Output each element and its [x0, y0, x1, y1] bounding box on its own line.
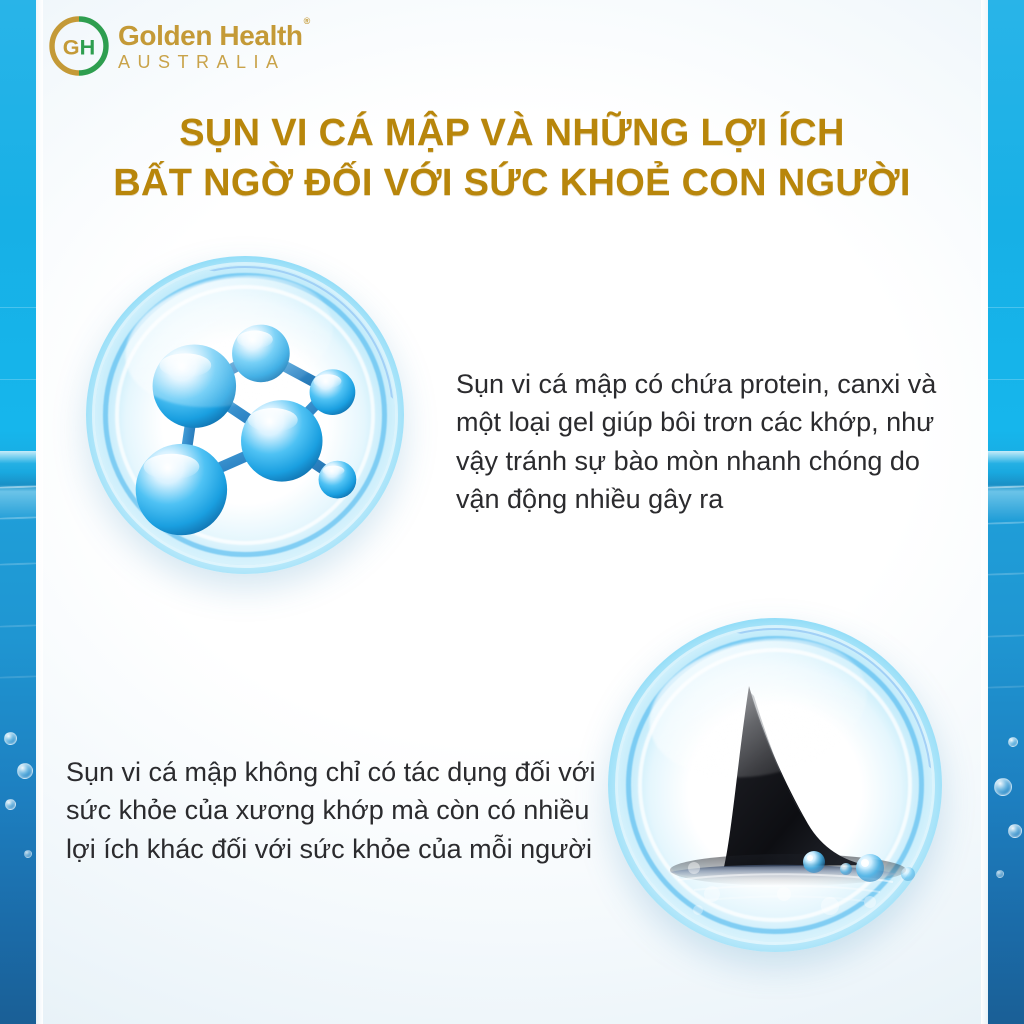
gh-monogram-icon: GH — [49, 16, 109, 76]
molecule-sphere-icon — [86, 256, 404, 574]
infographic-poster: GH Golden Health® AUSTRALIA SỤN VI CÁ MẬ… — [0, 0, 1024, 1024]
page-title-line-2: BẤT NGỜ ĐỐI VỚI SỨC KHOẺ CON NGƯỜI — [0, 158, 1024, 208]
bubble-icon — [994, 778, 1012, 796]
body-text-general-health: Sụn vi cá mập không chỉ có tác dụng đối … — [66, 753, 596, 868]
brand-wordmark: Golden Health® AUSTRALIA — [118, 22, 309, 71]
svg-text:GH: GH — [63, 34, 95, 59]
body-text-joints: Sụn vi cá mập có chứa protein, canxi và … — [456, 365, 948, 518]
bubble-icon — [1008, 824, 1022, 838]
shark-fin-sphere-icon — [608, 618, 942, 952]
bubble-icon — [1008, 737, 1018, 747]
molecule-diagram — [86, 256, 404, 574]
bubble-icon — [4, 732, 17, 745]
brand-country: AUSTRALIA — [118, 53, 309, 71]
shark-fin-photo — [608, 618, 942, 952]
bubble-icon — [17, 763, 33, 779]
brand-name: Golden Health — [118, 20, 303, 51]
bubble-icon — [996, 870, 1004, 878]
registered-trademark-icon: ® — [304, 16, 310, 26]
brand-logo[interactable]: GH Golden Health® AUSTRALIA — [49, 16, 309, 76]
page-title-line-1: SỤN VI CÁ MẬP VÀ NHỮNG LỢI ÍCH — [0, 108, 1024, 158]
bubble-icon — [5, 799, 16, 810]
page-title: SỤN VI CÁ MẬP VÀ NHỮNG LỢI ÍCH BẤT NGỜ Đ… — [0, 108, 1024, 208]
bubble-icon — [24, 850, 32, 858]
